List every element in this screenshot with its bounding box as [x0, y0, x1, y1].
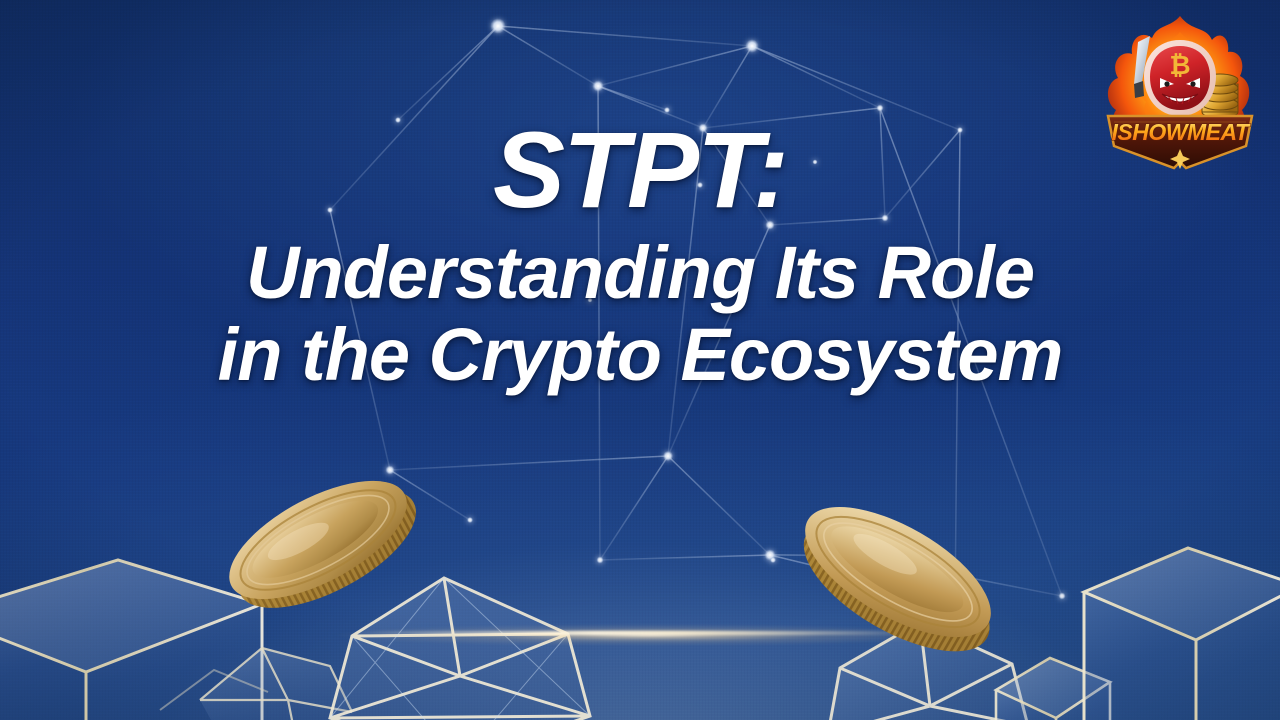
channel-logo-ishowmeat[interactable]: ₿ ISHOWMEAT	[1094, 12, 1266, 174]
thumbnail-canvas: STPT: Understanding Its Role in the Cryp…	[0, 0, 1280, 720]
gold-coin-left	[212, 455, 434, 634]
logo-mascot-steak: ₿	[1144, 40, 1216, 116]
logo-banner: ISHOWMEAT	[1108, 116, 1252, 169]
gold-coins	[0, 0, 1280, 720]
gold-coin-right	[779, 481, 1016, 677]
logo-bitcoin-symbol: ₿	[1169, 51, 1190, 81]
logo-brand-text: ISHOWMEAT	[1112, 119, 1251, 145]
